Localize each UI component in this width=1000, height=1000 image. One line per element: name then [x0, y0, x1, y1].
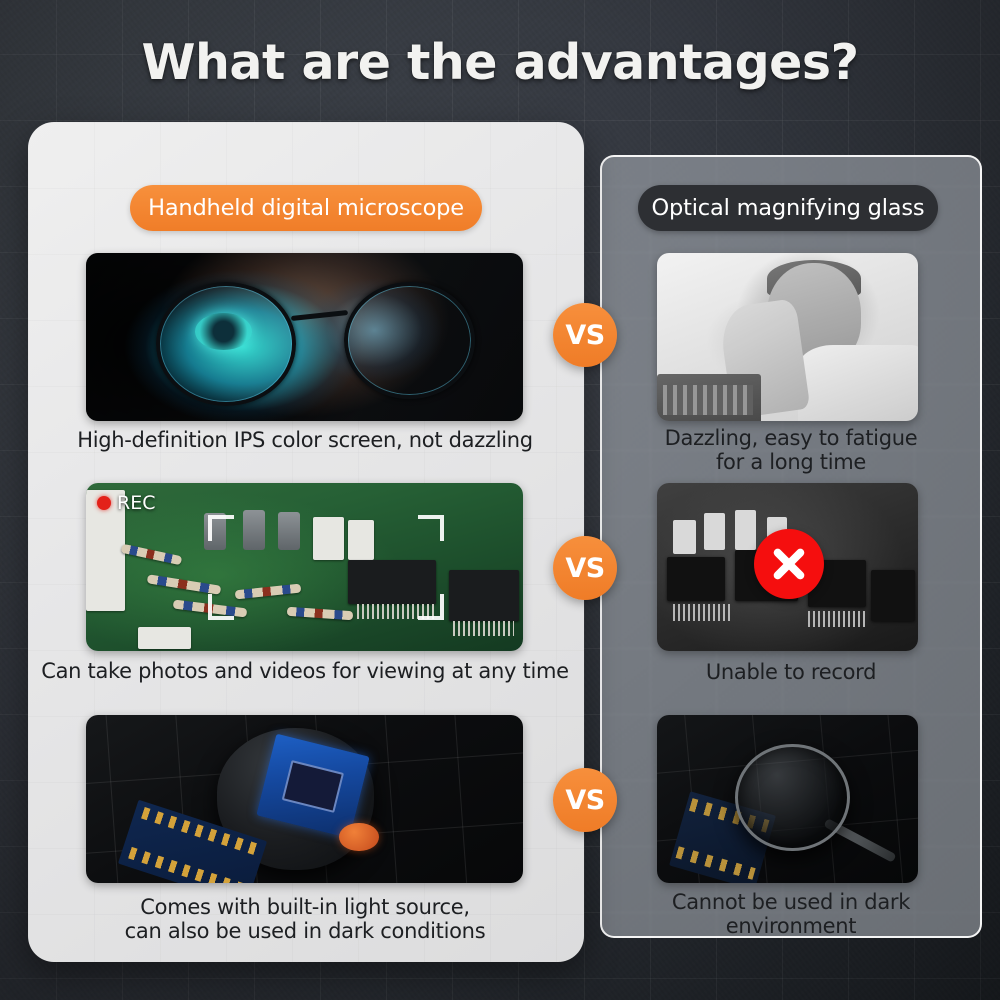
rec-indicator: REC — [97, 492, 155, 514]
glasses-bridge — [291, 311, 348, 322]
focus-bracket-top-right — [418, 515, 444, 541]
ic-chip — [871, 570, 915, 620]
image-tired-man-rubbing-eyes — [657, 253, 918, 421]
eyeglasses-artwork — [86, 253, 523, 421]
magnifier-artwork — [657, 715, 918, 883]
chip-pins — [673, 604, 730, 621]
caption-right-row-1: Dazzling, easy to fatigue for a long tim… — [612, 426, 970, 474]
focus-bracket-bottom-right — [418, 594, 444, 620]
badge-optical-magnifying-glass: Optical magnifying glass — [638, 185, 938, 231]
shirt-shape — [798, 345, 918, 421]
white-component — [673, 520, 696, 554]
white-component — [735, 510, 756, 550]
lens-rim-right — [344, 282, 475, 400]
image-handheld-microscope-device — [86, 715, 523, 883]
caption-right-row-2: Unable to record — [612, 660, 970, 684]
caption-left-row-1: High-definition IPS color screen, not da… — [40, 428, 570, 452]
caption-left-row-3: Comes with built-in light source, can al… — [40, 895, 570, 943]
page-title: What are the advantages? — [0, 34, 1000, 91]
focus-bracket-bottom-left — [208, 594, 234, 620]
workbench-shape — [657, 374, 761, 421]
magnifier-lens — [735, 744, 850, 852]
chip-pins — [808, 611, 865, 628]
ic-chip — [667, 557, 724, 601]
vs-badge-row-2: VS — [553, 536, 617, 600]
image-eyeglasses-screen-reflection — [86, 253, 523, 421]
caption-left-row-2: Can take photos and videos for viewing a… — [40, 659, 570, 683]
focus-bracket-top-left — [208, 515, 234, 541]
rec-label: REC — [117, 492, 155, 514]
white-component — [704, 513, 725, 550]
device-artwork — [86, 715, 523, 883]
vs-badge-row-3: VS — [553, 768, 617, 832]
power-button-icon — [339, 823, 378, 852]
image-magnifying-glass-over-board — [657, 715, 918, 883]
badge-handheld-digital-microscope: Handheld digital microscope — [130, 185, 482, 231]
record-dot-icon — [97, 496, 111, 510]
image-green-circuit-board: REC — [86, 483, 523, 651]
vs-badge-row-1: VS — [553, 303, 617, 367]
tired-man-artwork — [657, 253, 918, 421]
caption-right-row-3: Cannot be used in dark environment — [612, 890, 970, 938]
red-x-icon — [754, 529, 824, 599]
